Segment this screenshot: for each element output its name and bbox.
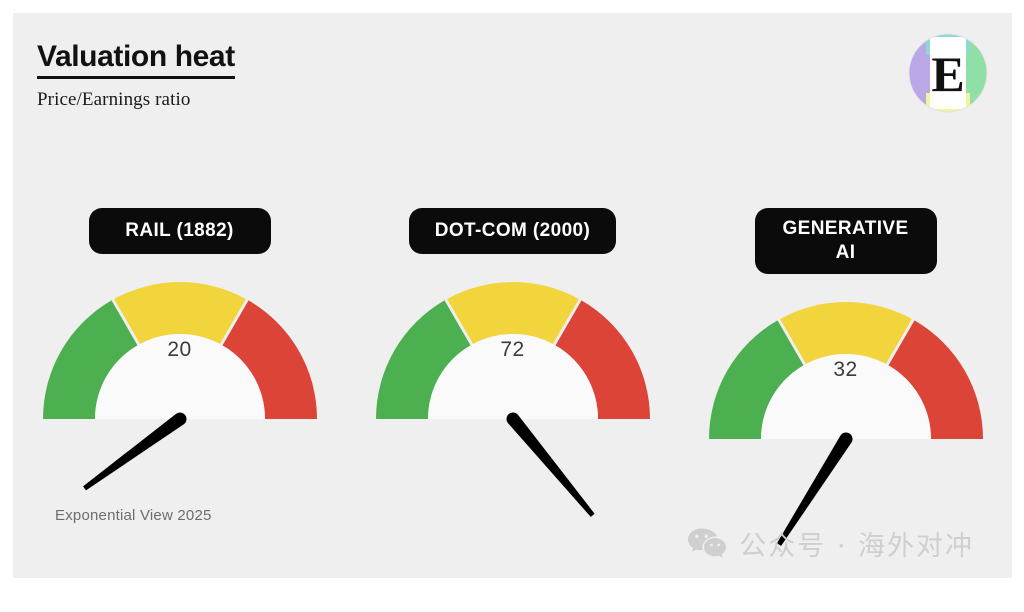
gauge-label-dotcom: DOT-COM (2000) xyxy=(409,208,617,254)
gauge-generative-ai: GENERATIVE AI 32 xyxy=(696,208,996,442)
logo-letter: E xyxy=(931,46,964,102)
gauges-row: RAIL (1882) 20 xyxy=(13,208,1012,442)
gauge-value-generative-ai: 32 xyxy=(707,358,985,382)
exponential-view-logo: E xyxy=(908,33,988,113)
dial-dotcom: 72 xyxy=(374,280,652,422)
gauge-value-rail: 20 xyxy=(41,338,319,362)
gauge-label-text: DOT-COM (2000) xyxy=(435,220,591,241)
gauge-value-dotcom: 72 xyxy=(374,338,652,362)
gauge-label-text: RAIL (1882) xyxy=(125,220,234,241)
dial-generative-ai: 32 xyxy=(707,300,985,442)
gauge-rail: RAIL (1882) 20 xyxy=(30,208,330,422)
slide-root: Valuation heat Price/Earnings ratio xyxy=(0,0,1024,612)
header: Valuation heat Price/Earnings ratio xyxy=(37,40,235,111)
watermark: 公众号 · 海外对冲 xyxy=(687,524,974,563)
gauge-label-line-2: AI xyxy=(781,241,911,265)
footer-note: Exponential View 2025 xyxy=(55,507,212,524)
gauge-label-rail: RAIL (1882) xyxy=(89,208,271,254)
needle-rail xyxy=(80,410,188,494)
wechat-icon xyxy=(687,527,727,561)
needle-dotcom xyxy=(503,410,597,520)
gauge-label-generative-ai: GENERATIVE AI xyxy=(755,208,937,274)
page-title: Valuation heat xyxy=(37,40,235,79)
gauge-label-line-1: GENERATIVE xyxy=(781,217,911,241)
dial-rail: 20 xyxy=(41,280,319,422)
watermark-text: 公众号 · 海外对冲 xyxy=(739,524,974,563)
page-subtitle: Price/Earnings ratio xyxy=(37,89,235,111)
slide-card: Valuation heat Price/Earnings ratio xyxy=(13,13,1012,578)
gauge-dotcom: DOT-COM (2000) 72 xyxy=(363,208,663,422)
